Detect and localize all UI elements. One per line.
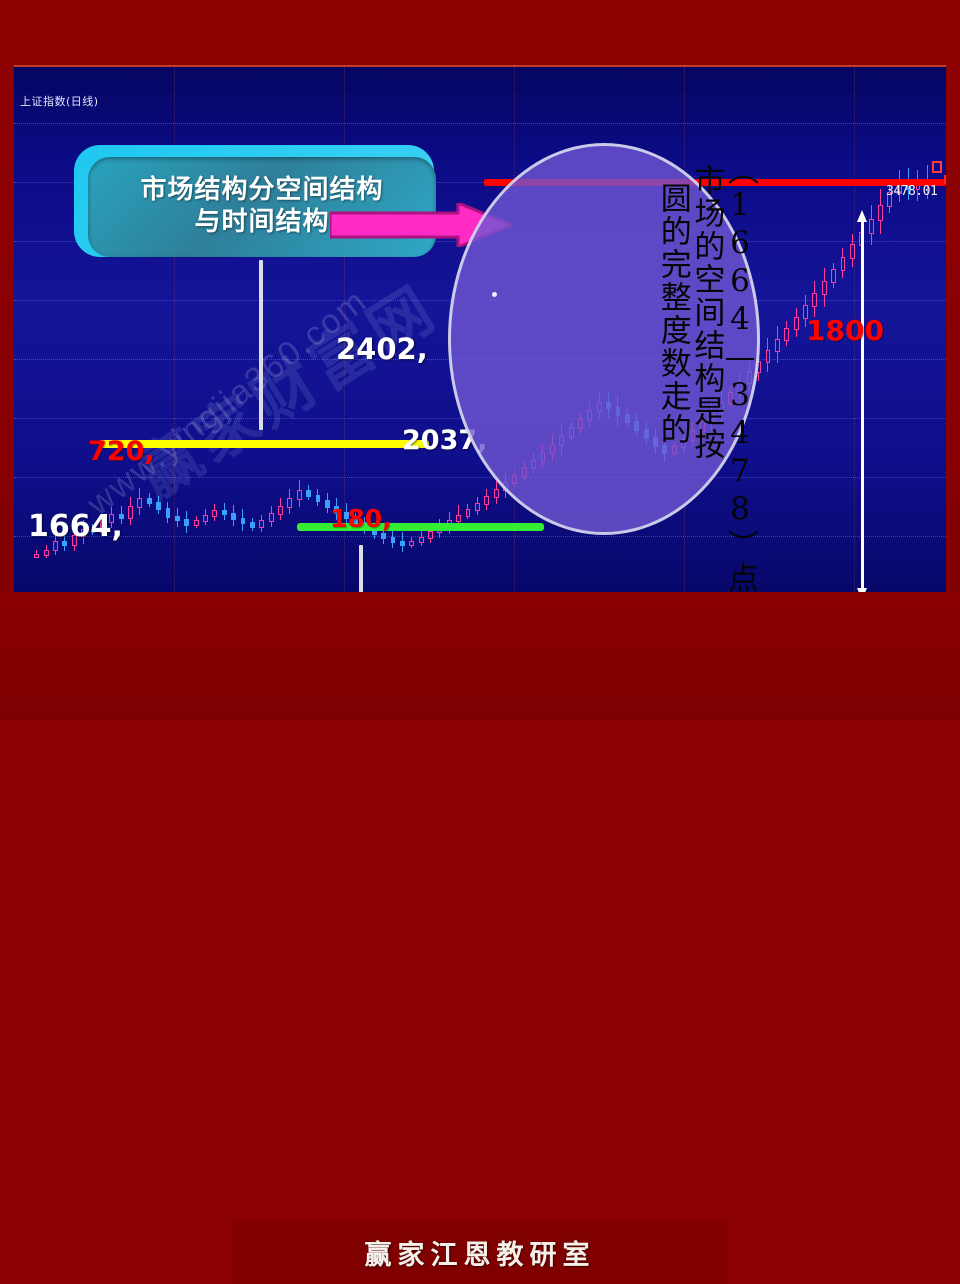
candlestick (794, 308, 799, 337)
callout-vertical-text: （1664—3478）点， 市场的空间结构是按 圆的完整度数走的 (455, 150, 755, 530)
annotation-2402: 2402, (336, 332, 428, 366)
candlestick (419, 531, 424, 546)
arrow-shaft (861, 218, 864, 592)
grid-line (14, 123, 946, 124)
candlestick (400, 532, 405, 552)
candle-body (812, 293, 817, 307)
slide-root: 上证指数(日线) 赢家财富网 www.yingjia360.com 3478.0… (0, 0, 960, 720)
candle-body (147, 498, 152, 504)
candlestick (137, 488, 142, 515)
candlestick (184, 511, 189, 533)
candlestick (44, 545, 49, 558)
candle-body (250, 522, 255, 528)
candlestick (316, 489, 321, 506)
candlestick (850, 234, 855, 267)
candle-body (409, 541, 414, 546)
footer-band: 赢家江恩教研室 (0, 592, 960, 720)
candlestick (869, 205, 874, 246)
resistance-line-cap (944, 175, 946, 184)
title-line-2: 与时间结构 (194, 207, 329, 239)
candlestick (203, 509, 208, 525)
candlestick (269, 506, 274, 526)
candlestick (128, 497, 133, 525)
candle-body (44, 550, 49, 556)
candle-body (794, 317, 799, 330)
candle-body (231, 513, 236, 520)
candle-body (259, 520, 264, 528)
callout-column-3: 圆的完整度数走的 (656, 182, 688, 446)
candle-body (428, 531, 433, 538)
footer-title: 赢家江恩教研室 (232, 1220, 728, 1284)
candlestick (841, 248, 846, 277)
annotation-180: 180, (330, 504, 392, 533)
candlestick (784, 321, 789, 346)
candle-body (316, 495, 321, 502)
candlestick (231, 505, 236, 526)
candlestick (409, 537, 414, 548)
last-price-marker-icon (932, 161, 942, 173)
candle-body (775, 339, 780, 352)
candlestick (194, 516, 199, 528)
candlestick (831, 263, 836, 289)
candle-body (137, 498, 142, 508)
candle-body (400, 541, 405, 546)
time-measure-bar-720 (259, 260, 263, 430)
candle-body (175, 516, 180, 521)
annotation-720: 720, (88, 436, 155, 467)
candlestick (766, 338, 771, 372)
footer-plate: 赢家江恩教研室 (232, 1220, 728, 1284)
candle-body (184, 519, 189, 526)
candle-body (287, 498, 292, 508)
candlestick (147, 493, 152, 507)
candle-body (391, 537, 396, 543)
candle-body (194, 520, 199, 526)
candle-body (128, 506, 133, 519)
candle-body (278, 506, 283, 515)
candlestick (822, 268, 827, 307)
candlestick (166, 502, 171, 523)
candle-body (841, 257, 846, 271)
candle-body (381, 533, 386, 539)
callout-column-1: （1664—3478）点， (723, 154, 755, 628)
chart-top-border (14, 65, 946, 67)
candle-body (766, 350, 771, 363)
candle-body (850, 244, 855, 258)
candle-body (212, 510, 217, 517)
candle-body (306, 490, 311, 497)
candle-body (831, 269, 836, 283)
candlestick (259, 515, 264, 532)
price-label-3478: 3478.01 (886, 184, 937, 199)
candlestick (278, 498, 283, 520)
candle-body (166, 508, 171, 517)
candlestick (212, 504, 217, 521)
candlestick (175, 508, 180, 527)
candle-body (222, 510, 227, 515)
candlestick (156, 496, 161, 514)
candlestick (775, 326, 780, 363)
candle-body (156, 502, 161, 511)
candle-body (869, 219, 874, 234)
candle-body (822, 281, 827, 295)
candlestick (812, 281, 817, 317)
annotation-1664: 1664, (28, 509, 123, 544)
candle-body (878, 205, 883, 220)
time-measure-bar-180 (359, 545, 363, 592)
candle-body (203, 515, 208, 523)
candlestick (222, 503, 227, 520)
candlestick (306, 485, 311, 500)
annotation-1800: 1800 (806, 314, 884, 347)
candlestick (878, 189, 883, 234)
candle-body (241, 518, 246, 525)
grid-line (14, 536, 946, 537)
candlestick (34, 550, 39, 558)
watermark-url-text: www.yingjia360.com (80, 281, 375, 524)
candlestick (297, 480, 302, 507)
index-name-label: 上证指数(日线) (20, 93, 99, 109)
candle-body (297, 490, 302, 499)
candle-body (419, 537, 424, 544)
candle-body (269, 513, 274, 522)
callout-column-2: 市场的空间结构是按 (690, 164, 722, 461)
candlestick (287, 489, 292, 515)
candle-body (784, 328, 789, 341)
candle-body (34, 554, 39, 558)
candlestick (250, 518, 255, 531)
candlestick (241, 509, 246, 531)
range-measure-arrow-icon (857, 210, 867, 592)
